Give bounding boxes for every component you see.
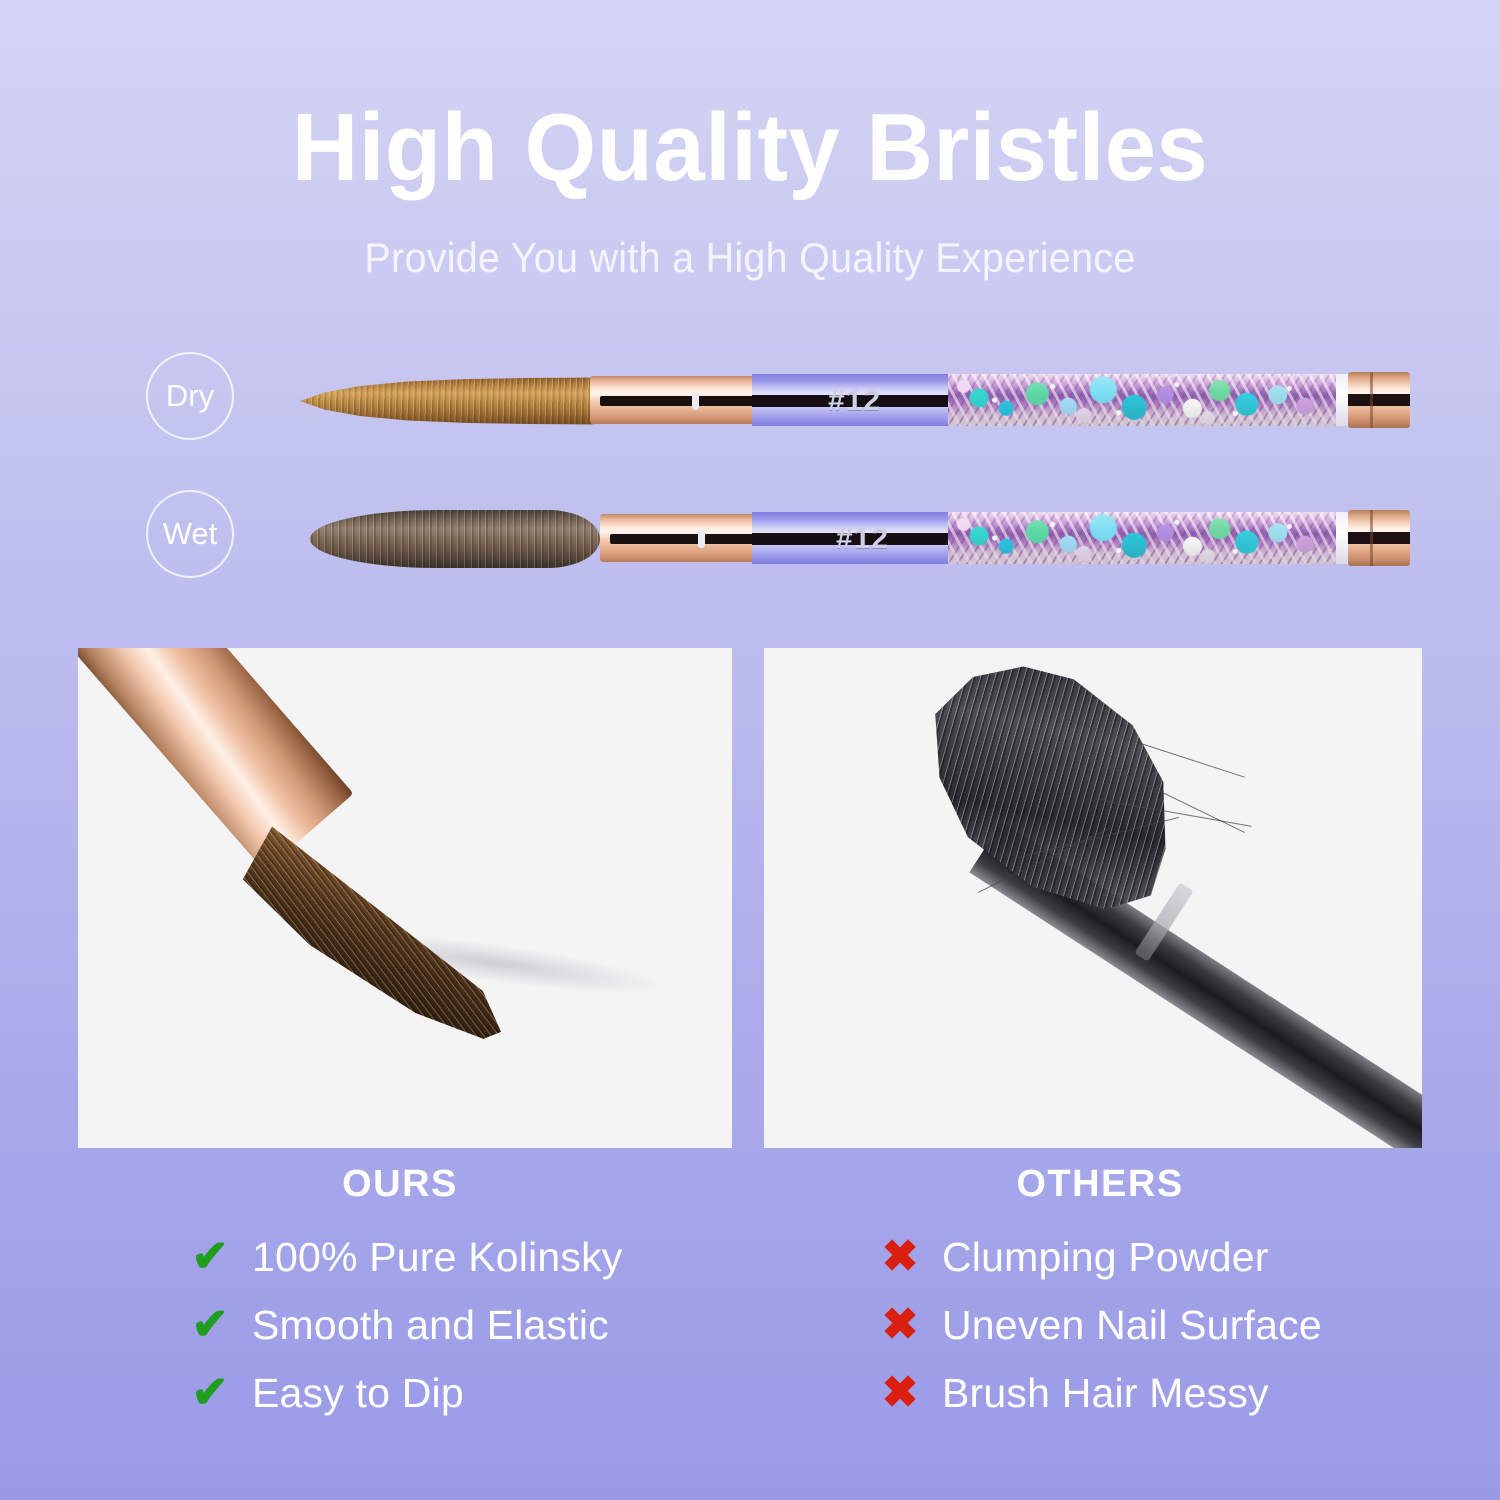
badge-wet-label: Wet — [163, 516, 218, 552]
ferrule-pin-wet — [698, 530, 705, 548]
list-item-label: Uneven Nail Surface — [942, 1302, 1322, 1349]
page-subtitle: Provide You with a High Quality Experien… — [45, 234, 1455, 282]
brush-wet: #12 — [300, 478, 1410, 598]
end-cap-band-wet — [1348, 532, 1410, 544]
wet-bristles-icon — [310, 510, 600, 568]
kolinsky-bristles — [225, 821, 538, 1057]
brush-dry: #12 — [300, 340, 1410, 460]
ours-heading: OURS — [250, 1163, 550, 1206]
ours-brush-photo — [78, 648, 732, 1148]
end-cap-seam-dry — [1370, 372, 1373, 428]
others-brush-photo — [764, 648, 1422, 1148]
rose-gold-ferrule — [78, 648, 354, 871]
badge-dry-label: Dry — [166, 378, 214, 414]
check-icon: ✔ — [190, 1371, 230, 1415]
cross-icon: ✖ — [880, 1235, 920, 1279]
badge-wet: Wet — [146, 490, 234, 578]
check-icon: ✔ — [190, 1235, 230, 1279]
end-cap-seam-wet — [1370, 510, 1373, 566]
glitter-handle-dry — [948, 374, 1336, 426]
glitter-handle-wet — [948, 512, 1336, 564]
list-item: ✖ Uneven Nail Surface — [880, 1296, 1322, 1354]
list-item-label: 100% Pure Kolinsky — [252, 1234, 623, 1281]
brush-size-label-dry: #12 — [828, 384, 881, 418]
list-item: ✔ 100% Pure Kolinsky — [190, 1228, 623, 1286]
cross-icon: ✖ — [880, 1303, 920, 1347]
end-cap-band-dry — [1348, 394, 1410, 406]
list-item-label: Easy to Dip — [252, 1370, 464, 1417]
list-item-label: Smooth and Elastic — [252, 1302, 609, 1349]
dry-bristles-icon — [300, 376, 600, 426]
others-heading: OTHERS — [950, 1163, 1250, 1206]
brush-size-label-wet: #12 — [836, 522, 889, 556]
list-item: ✔ Easy to Dip — [190, 1364, 464, 1422]
list-item: ✔ Smooth and Elastic — [190, 1296, 609, 1354]
cross-icon: ✖ — [880, 1371, 920, 1415]
ferrule-pin-dry — [692, 392, 699, 410]
list-item: ✖ Brush Hair Messy — [880, 1364, 1269, 1422]
list-item: ✖ Clumping Powder — [880, 1228, 1269, 1286]
list-item-label: Brush Hair Messy — [942, 1370, 1269, 1417]
badge-dry: Dry — [146, 352, 234, 440]
list-item-label: Clumping Powder — [942, 1234, 1269, 1281]
page-title: High Quality Bristles — [30, 93, 1470, 203]
check-icon: ✔ — [190, 1303, 230, 1347]
promo-image: High Quality Bristles Provide You with a… — [0, 0, 1500, 1500]
